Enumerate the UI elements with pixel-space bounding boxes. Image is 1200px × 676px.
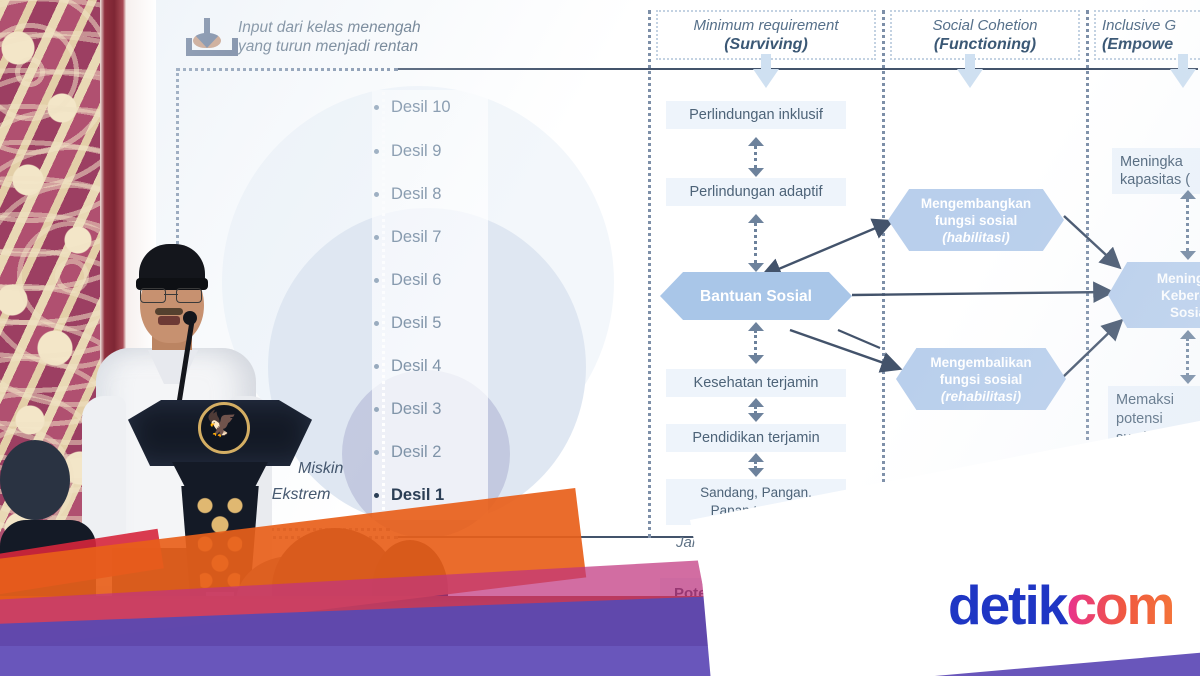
chart-top-solid-line	[398, 68, 1198, 70]
flow-box-perlindungan-adaptif: Perlindungan adaptif	[666, 178, 846, 206]
desil-label: Desil 4	[391, 357, 441, 375]
bullet-icon	[374, 364, 379, 369]
right-top-box-line1: Meningka	[1120, 153, 1200, 171]
stage-header-functioning-bold: (Functioning)	[934, 36, 1036, 53]
bullet-icon	[374, 493, 379, 498]
hex-bottom-line2: fungsi sosial	[940, 371, 1023, 388]
node-mengembalikan-fungsi-sosial: Mengembalikan fungsi sosial (rehabilitas…	[896, 348, 1066, 410]
desil-label: Desil 8	[391, 185, 441, 203]
desil-label: Desil 9	[391, 142, 441, 160]
stage-header-empowering-title: Inclusive G	[1102, 16, 1200, 35]
speaker-mustache	[155, 308, 183, 315]
right-bottom-box-line1: Memaksi	[1116, 391, 1200, 410]
node-bantuan-sosial-label: Bantuan Sosial	[700, 288, 812, 305]
hex-top-line3: (habilitasi)	[942, 229, 1010, 246]
column-divider-1	[648, 10, 651, 538]
stage-header-surviving: Minimum requirement (Surviving)	[656, 10, 876, 60]
bullet-icon	[374, 450, 379, 455]
list-item-desil-9: Desil 9	[374, 142, 441, 161]
two-way-arrow-3	[748, 322, 764, 364]
bullet-icon	[374, 235, 379, 240]
detikcom-logo: detikcom	[948, 578, 1173, 633]
bullet-icon	[374, 149, 379, 154]
bullet-icon	[374, 321, 379, 326]
flow-box-meningkatkan-kapasitas: Meningka kapasitas (	[1112, 148, 1200, 194]
podium-neck	[172, 462, 268, 488]
desil-label: Desil 5	[391, 314, 441, 332]
node-mengembangkan-fungsi-sosial: Mengembangkan fungsi sosial (habilitasi)	[888, 189, 1064, 251]
node-meningkatkan-keberdayaan-sosial: Meningka Keberda Sosia	[1108, 262, 1200, 328]
hex-top-line1: Mengembangkan	[921, 195, 1031, 212]
desil-label: Desil 2	[391, 443, 441, 461]
audience-head-4	[0, 440, 70, 520]
chart-top-dotted-line	[176, 68, 398, 71]
hex-bottom-line1: Mengembalikan	[930, 354, 1031, 371]
two-way-arrow-4	[748, 398, 764, 422]
desil-label: Desil 3	[391, 400, 441, 418]
node-bantuan-sosial: Bantuan Sosial	[660, 272, 852, 320]
list-item-desil-2: Desil 2	[374, 443, 441, 462]
two-way-arrow-right-bottom	[1180, 330, 1196, 384]
hex-bottom-line3: (rehabilitasi)	[941, 388, 1021, 405]
desil-label: Desil 7	[391, 228, 441, 246]
screenshot-root: Input dari kelas menengah yang turun men…	[0, 0, 1200, 676]
list-item-desil-8: Desil 8	[374, 185, 441, 204]
input-note-top-line2: yang turun menjadi rentan	[238, 37, 478, 56]
list-item-desil-5: Desil 5	[374, 314, 441, 333]
two-way-arrow-1	[748, 137, 764, 177]
right-hex-line2: Keberda	[1161, 287, 1200, 304]
list-item-desil-4: Desil 4	[374, 357, 441, 376]
download-icon	[186, 18, 228, 56]
microphone-head	[183, 311, 197, 325]
flow-box-pendidikan-terjamin: Pendidikan terjamin	[666, 424, 846, 452]
bullet-icon	[374, 192, 379, 197]
stage-header-surviving-bold: (Surviving)	[724, 36, 808, 53]
hex-top-line2: fungsi sosial	[935, 212, 1018, 229]
stage-header-functioning: Social Cohetion (Functioning)	[890, 10, 1080, 60]
garuda-emblem-icon: 🦅	[206, 411, 236, 439]
right-hex-line3: Sosia	[1170, 304, 1200, 321]
column-divider-2	[882, 10, 885, 538]
stage-header-functioning-title: Social Cohetion	[898, 16, 1072, 35]
right-hex-line1: Meningka	[1157, 270, 1200, 287]
input-note-top-line1: Input dari kelas menengah	[238, 18, 478, 37]
desil-label: Desil 1	[391, 486, 444, 504]
eyeglasses	[140, 288, 202, 301]
flow-box-perlindungan-inklusif: Perlindungan inklusif	[666, 101, 846, 129]
speaker-mouth	[158, 316, 180, 325]
list-item-desil-1: Desil 1	[374, 486, 444, 505]
stage-header-empowering-bold: (Empowe	[1102, 36, 1173, 53]
bullet-icon	[374, 407, 379, 412]
stage-header-surviving-title: Minimum requirement	[664, 16, 868, 35]
desil-label: Desil 10	[391, 98, 451, 116]
list-item-desil-7: Desil 7	[374, 228, 441, 247]
label-miskin: Miskin	[298, 460, 343, 478]
logo-text-com: com	[1066, 574, 1173, 636]
two-way-arrow-2	[748, 214, 764, 272]
bullet-icon	[374, 105, 379, 110]
two-way-arrow-5	[748, 453, 764, 477]
list-item-desil-10: Desil 10	[374, 98, 451, 117]
desil-label: Desil 6	[391, 271, 441, 289]
two-way-arrow-right-top	[1180, 190, 1196, 260]
input-note-top: Input dari kelas menengah yang turun men…	[238, 18, 478, 56]
list-item-desil-3: Desil 3	[374, 400, 441, 419]
bullet-icon	[374, 278, 379, 283]
chevron-down-icon-1	[753, 54, 779, 88]
logo-text-detik: detik	[948, 574, 1066, 636]
list-item-desil-6: Desil 6	[374, 271, 441, 290]
right-top-box-line2: kapasitas (	[1120, 171, 1200, 189]
chevron-down-icon-2	[957, 54, 983, 88]
stage-header-empowering: Inclusive G (Empowe	[1094, 10, 1200, 60]
flow-box-kesehatan-terjamin: Kesehatan terjamin	[666, 369, 846, 397]
chevron-down-icon-3	[1170, 54, 1196, 88]
